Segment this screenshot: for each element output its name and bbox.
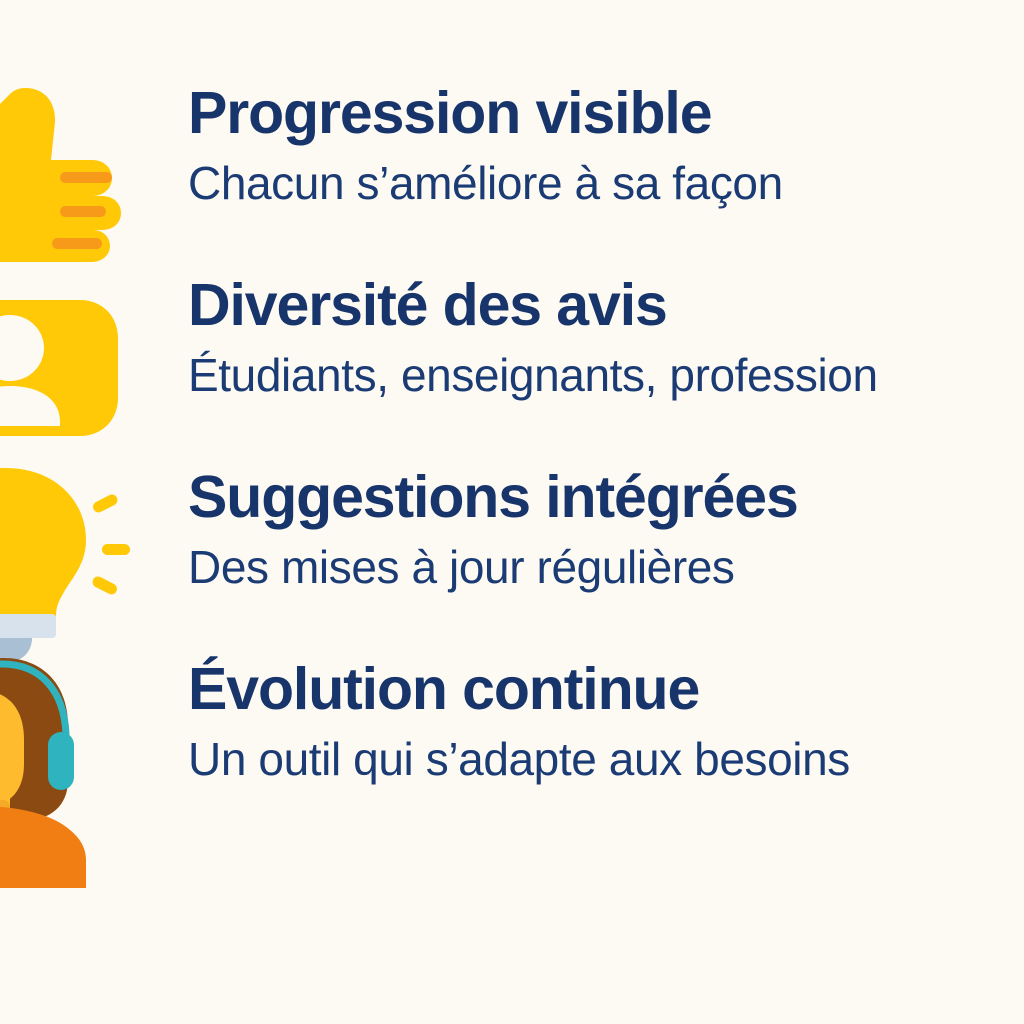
feature-title: Diversité des avis (188, 270, 667, 340)
feature-row: Évolution continue Un outil qui s’adapte… (0, 648, 1024, 840)
feature-subtitle: Étudiants, enseignants, profession (188, 346, 878, 404)
feature-title: Progression visible (188, 78, 711, 148)
feature-text: Diversité des avis Étudiants, enseignant… (188, 264, 1024, 456)
feature-text: Évolution continue Un outil qui s’adapte… (188, 648, 1024, 840)
support-agent-headset-icon (0, 648, 142, 840)
lightbulb-icon (0, 456, 142, 648)
feature-title: Évolution continue (188, 654, 699, 724)
thumbs-up-icon (0, 72, 142, 264)
feature-row: Diversité des avis Étudiants, enseignant… (0, 264, 1024, 456)
feature-text: Suggestions intégrées Des mises à jour r… (188, 456, 1024, 648)
feature-subtitle: Un outil qui s’adapte aux besoins (188, 730, 850, 788)
feature-row: Suggestions intégrées Des mises à jour r… (0, 456, 1024, 648)
feature-title: Suggestions intégrées (188, 462, 798, 532)
speech-bubble-person-icon (0, 264, 142, 456)
feature-subtitle: Des mises à jour régulières (188, 538, 735, 596)
feature-subtitle: Chacun s’améliore à sa façon (188, 154, 783, 212)
feature-text: Progression visible Chacun s’améliore à … (188, 72, 1024, 264)
feature-row: Progression visible Chacun s’améliore à … (0, 72, 1024, 264)
feature-list-board: Progression visible Chacun s’améliore à … (0, 0, 1024, 1024)
